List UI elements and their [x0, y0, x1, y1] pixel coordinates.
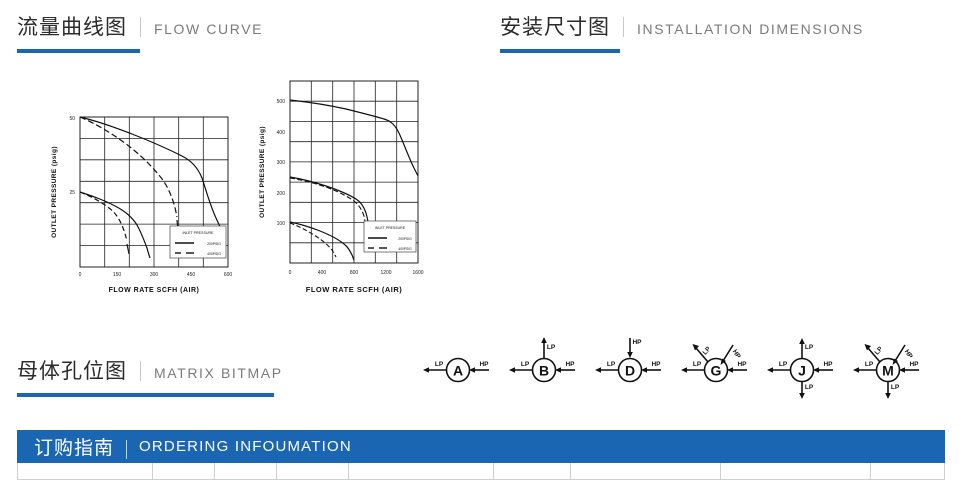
- svg-text:100: 100: [277, 221, 286, 227]
- port-letter: M: [882, 363, 894, 379]
- svg-text:300: 300: [277, 160, 286, 166]
- port-label-lp: LP: [865, 361, 874, 368]
- table-column-9: [871, 463, 944, 479]
- port-letter: A: [453, 363, 463, 379]
- svg-text:FLOW RATE SCFH (AIR): FLOW RATE SCFH (AIR): [306, 285, 403, 294]
- port-label-lp: LP: [693, 361, 702, 368]
- port-label-hp: HP: [737, 361, 747, 368]
- svg-text:400PSIG: 400PSIG: [398, 247, 412, 251]
- table-column-1: [18, 463, 153, 479]
- port-letter: G: [711, 363, 722, 379]
- svg-text:450: 450: [187, 272, 196, 278]
- svg-text:FLOW RATE SCFH (AIR): FLOW RATE SCFH (AIR): [109, 287, 200, 294]
- table-column-2: [153, 463, 215, 479]
- port-diagram-m: M LP HP LP HP LP: [845, 332, 931, 404]
- port-label-lp-bottom: LP: [805, 384, 814, 391]
- port-label-hp-upright: HP: [903, 348, 914, 360]
- header-divider: [623, 17, 624, 37]
- port-label-hp: HP: [479, 361, 489, 368]
- svg-text:400: 400: [277, 130, 286, 136]
- svg-text:300: 300: [150, 272, 159, 278]
- port-label-lp: LP: [607, 361, 616, 368]
- svg-text:800: 800: [350, 270, 359, 276]
- port-configuration-diagrams: A LP HP B LP HP: [415, 332, 935, 404]
- chart-legend: INLET PRESSURE 200PSIG 400PSIG: [170, 226, 226, 258]
- section-title-cn-matrix: 母体孔位图: [17, 358, 127, 384]
- svg-text:200PSIG: 200PSIG: [207, 242, 221, 246]
- port-label-lp: LP: [779, 361, 788, 368]
- port-label-lp: LP: [521, 361, 530, 368]
- section-underline-installation: [500, 49, 620, 53]
- table-column-6: [494, 463, 571, 479]
- svg-text:200: 200: [277, 191, 286, 197]
- port-label-lp-upleft: LP: [702, 345, 713, 356]
- svg-text:INLET PRESSURE: INLET PRESSURE: [183, 231, 214, 235]
- port-label-lp-top: LP: [805, 344, 814, 351]
- port-letter: J: [798, 363, 806, 379]
- port-diagram-g: G LP HP LP HP: [673, 332, 759, 404]
- svg-text:50: 50: [69, 116, 75, 122]
- table-column-4: [277, 463, 349, 479]
- svg-text:0: 0: [79, 272, 82, 278]
- ordering-table: [17, 463, 945, 480]
- port-label-hp: HP: [823, 361, 833, 368]
- table-column-3: [215, 463, 277, 479]
- port-label-lp-bottom: LP: [891, 384, 900, 391]
- svg-text:200PSIG: 200PSIG: [398, 237, 412, 241]
- port-label-lp-top: LP: [547, 344, 556, 351]
- svg-text:400: 400: [318, 270, 327, 276]
- ordering-title-en: ORDERING INFOUMATION: [139, 438, 352, 455]
- port-label-hp: HP: [909, 361, 919, 368]
- header-divider: [140, 17, 141, 37]
- chart-flow-curve-low: 50 25 0 150 300 450 600 OUTLET PRESSURE …: [42, 100, 242, 300]
- port-letter: B: [539, 363, 549, 379]
- ordering-information-bar: 订购指南 ORDERING INFOUMATION: [17, 430, 945, 463]
- svg-text:INLET PRESSURE: INLET PRESSURE: [375, 226, 406, 230]
- port-label-lp: LP: [435, 361, 444, 368]
- section-underline-matrix: [17, 393, 274, 397]
- chart-flow-curve-low-svg: 50 25 0 150 300 450 600 OUTLET PRESSURE …: [42, 100, 242, 300]
- svg-text:0: 0: [289, 270, 292, 276]
- port-label-hp-top: HP: [632, 339, 642, 346]
- port-label-hp-upright: HP: [731, 348, 742, 360]
- port-label-hp: HP: [565, 361, 575, 368]
- section-title-en-flow-curve: FLOW CURVE: [154, 16, 263, 42]
- svg-text:1600: 1600: [412, 270, 423, 276]
- table-column-5: [349, 463, 494, 479]
- section-title-en-matrix: MATRIX BITMAP: [154, 360, 283, 386]
- section-underline-flow-curve: [17, 49, 140, 53]
- ordering-divider: [126, 440, 127, 459]
- port-label-hp: HP: [651, 361, 661, 368]
- svg-text:500: 500: [277, 99, 286, 105]
- header-divider: [140, 361, 141, 381]
- svg-text:OUTLET PRESSURE (psig): OUTLET PRESSURE (psig): [259, 126, 266, 218]
- svg-text:OUTLET PRESSURE (psig): OUTLET PRESSURE (psig): [51, 146, 58, 238]
- svg-text:600: 600: [224, 272, 233, 278]
- chart-legend: INLET PRESSURE 200PSIG 400PSIG: [364, 221, 416, 252]
- svg-text:400PSIG: 400PSIG: [207, 252, 221, 256]
- ordering-title-cn: 订购指南: [34, 433, 114, 460]
- section-header-matrix-bitmap: 母体孔位图 MATRIX BITMAP: [17, 358, 283, 397]
- svg-text:25: 25: [69, 190, 75, 196]
- port-letter: D: [625, 363, 635, 379]
- table-column-8: [721, 463, 871, 479]
- section-title-en-installation: INSTALLATION DIMENSIONS: [637, 16, 864, 42]
- product-spec-page: 流量曲线图 FLOW CURVE 安装尺寸图 INSTALLATION DIME…: [0, 0, 963, 480]
- port-label-lp-upleft: LP: [874, 345, 885, 356]
- chart-flow-curve-high: 500 400 300 200 100 0 400 800 1200 1600 …: [248, 68, 433, 300]
- port-diagram-d: D LP HP HP: [587, 332, 673, 404]
- svg-text:1200: 1200: [380, 270, 391, 276]
- port-diagram-j: J LP HP LP LP: [759, 332, 845, 404]
- port-diagram-b: B LP HP LP: [501, 332, 587, 404]
- section-title-cn-flow-curve: 流量曲线图: [17, 14, 127, 40]
- chart-flow-curve-high-svg: 500 400 300 200 100 0 400 800 1200 1600 …: [248, 68, 433, 300]
- port-diagram-a: A LP HP: [415, 332, 501, 404]
- table-column-7: [571, 463, 721, 479]
- svg-text:150: 150: [113, 272, 122, 278]
- section-title-cn-installation: 安装尺寸图: [500, 14, 610, 40]
- section-header-installation: 安装尺寸图 INSTALLATION DIMENSIONS: [500, 14, 864, 53]
- section-header-flow-curve: 流量曲线图 FLOW CURVE: [17, 14, 263, 53]
